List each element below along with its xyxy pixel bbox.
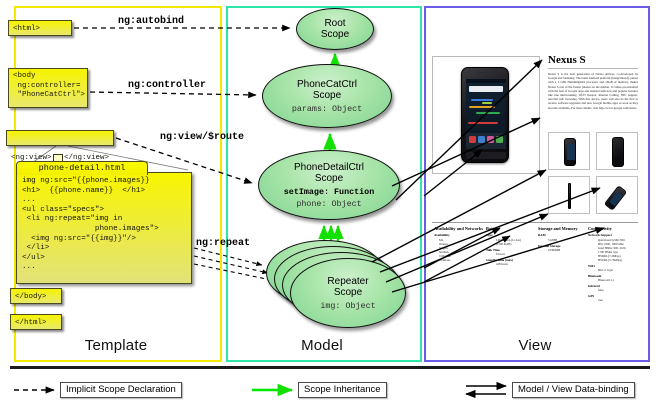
phone-wallpaper [466,95,506,131]
legend-item-scope-inheritance: Scope Inheritance [298,382,387,398]
spec-column-header: Availability and Networks [434,226,484,231]
phone-statusbar [466,79,506,83]
spec-value: HSUPA (5.76Mbps) [598,258,636,262]
legend-item-model-view-data-binding: Model / View Data-binding [512,382,635,398]
spec-column-header: Battery [486,226,536,231]
scope-root-line1: Root [324,18,345,30]
spec-value: (1500 mAH) [496,242,536,246]
scope-root: Root Scope [296,8,374,50]
spec-column-battery: Battery Type Lithium Ion (Li-Ion) (1500 … [486,226,536,266]
callout-filename-tab: phone-detail.html [16,161,148,175]
scope-phonecatctrl: PhoneCatCtrl Scope params: Object [262,64,392,128]
product-description: Nexus S is the next generation of Nexus … [548,72,638,110]
edge-label-ng-autobind: ng:autobind [118,16,184,27]
panel-title-view: View [424,337,646,354]
spec-value: true [598,298,636,302]
spec-value: 428 hours [496,262,536,266]
edge-label-ng-view-route: ng:view/$route [160,132,244,143]
legend-item-implicit-scope-declaration: Implicit Scope Declaration [60,382,182,398]
spec-value: 16384MB [548,248,588,252]
scope-repeater: Repeater Scope img: Object [290,258,406,328]
title-divider [548,68,638,69]
scope-repeater-line2: Scope [334,287,362,299]
spec-value: 512MB [548,238,588,242]
thumbnail-image-4[interactable] [596,176,638,214]
scope-phonedetailctrl: PhoneDetailCtrl Scope setImage: Function… [258,150,400,220]
scope-phonedetailctrl-line2: Scope [315,173,343,185]
scope-repeater-line1: Repeater [327,276,368,288]
panel-title-template: Template [14,337,218,354]
scope-repeater-prop-img: img: Object [320,301,375,311]
panel-title-model: Model [226,337,418,354]
edge-label-ng-controller: ng:controller [128,80,206,91]
diagram-canvas: <html> <body ng:controller= "PhoneCatCtr… [0,0,660,420]
thumbnail-image-3[interactable] [548,176,590,214]
phone-screen [466,79,506,149]
thumbnail-image-1[interactable] [548,132,590,170]
specs-divider [432,222,638,223]
phone-app-dock [466,133,506,149]
spec-column-availability: Availability and Networks Availability M… [434,226,484,262]
phone-search-widget [469,86,503,92]
callout-code-text: img ng:src="{{phone.images}} <h1> {{phon… [17,173,191,277]
spec-column-header: Connectivity [588,226,636,231]
view-rendered-page: Nexus S Nexus S is the next generation o… [432,14,638,330]
spec-value: 802.11 b/g/n [598,268,636,272]
scope-repeater-stack: Repeater Scope img: Object [266,240,406,332]
spec-column-connectivity: Connectivity Network Support Quad-band G… [588,226,636,302]
spec-value: false [598,288,636,292]
phone-device-illustration [461,67,509,163]
scope-phonedetailctrl-prop-setimage: setImage: Function [284,187,374,197]
scope-phonedetailctrl-prop-phone: phone: Object [296,199,361,209]
legend-divider [10,366,650,369]
phone-main-image-frame [432,56,540,174]
phone-nav-buttons [466,152,506,159]
spec-value: Vodafone [439,258,484,262]
scope-phonecatctrl-line1: PhoneCatCtrl [297,79,357,91]
code-box-body-close: </body> [10,288,62,304]
scope-phonecatctrl-prop-params: params: Object [292,104,362,114]
callout-phone-detail-html: img ng:src="{{phone.images}} <h1> {{phon… [16,172,192,284]
spec-value: 6 hours [496,252,536,256]
scope-root-line2: Scope [321,29,349,41]
scope-phonecatctrl-line2: Scope [313,90,341,102]
product-title: Nexus S [548,54,586,66]
code-box-html-close: </html> [10,314,62,330]
scope-phonedetailctrl-line1: PhoneDetailCtrl [294,162,364,174]
spec-column-storage: Storage and Memory RAM 512MB Internal St… [538,226,588,252]
code-box-body-open: <body ng:controller= "PhoneCatCtrl"> [8,68,88,108]
thumbnail-image-2[interactable] [596,132,638,170]
code-box-ngview: <ng:view> </ng:view> [6,130,114,146]
spec-value: Bluetooth 2.1 [598,278,636,282]
spec-column-header: Storage and Memory [538,226,588,231]
phone-speaker-icon [478,72,494,74]
edge-label-ng-repeat: ng:repeat [196,238,250,249]
code-box-html-open: <html> [8,20,72,36]
